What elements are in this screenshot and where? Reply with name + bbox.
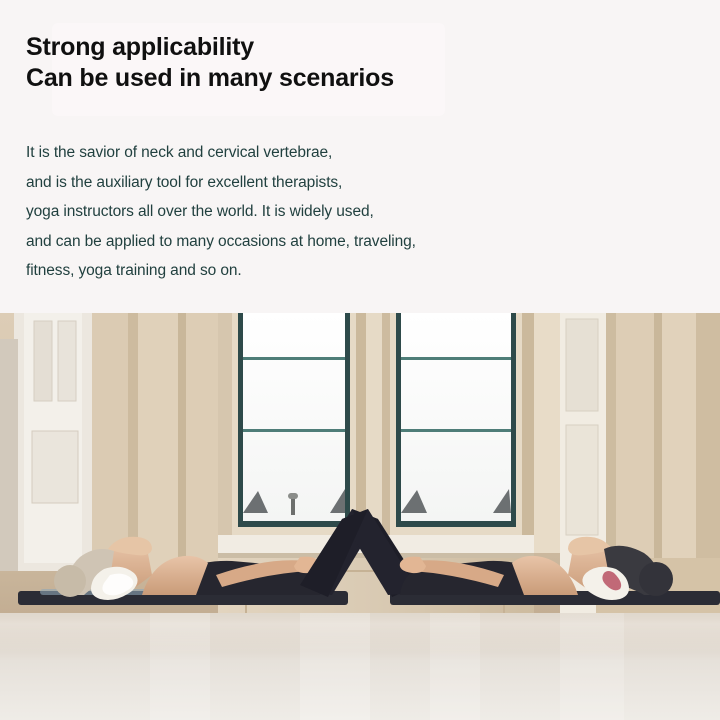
wall-panel-left bbox=[92, 313, 218, 575]
text-section: Strong applicability Can be used in many… bbox=[0, 0, 720, 313]
floor-glow bbox=[0, 613, 720, 653]
person-right-bun bbox=[639, 562, 673, 596]
heading-line-2: Can be used in many scenarios bbox=[26, 63, 666, 94]
window-reveal-right bbox=[522, 313, 560, 553]
description-line-4: and can be applied to many occasions at … bbox=[26, 227, 686, 257]
description-line-5: fitness, yoga training and so on. bbox=[26, 256, 686, 286]
heading-line-1: Strong applicability bbox=[26, 32, 666, 63]
window-right bbox=[390, 313, 522, 535]
lifestyle-photo bbox=[0, 313, 720, 720]
window-mullion-center bbox=[356, 313, 390, 545]
description-line-2: and is the auxiliary tool for excellent … bbox=[26, 168, 686, 198]
window-left bbox=[232, 313, 356, 535]
photo-illustration bbox=[0, 313, 720, 720]
description-paragraph: It is the savior of neck and cervical ve… bbox=[26, 138, 686, 286]
description-line-3: yoga instructors all over the world. It … bbox=[26, 197, 686, 227]
person-left-bun bbox=[54, 565, 86, 597]
description-line-1: It is the savior of neck and cervical ve… bbox=[26, 138, 686, 168]
door-left bbox=[0, 313, 92, 571]
page-title: Strong applicability Can be used in many… bbox=[26, 32, 666, 94]
